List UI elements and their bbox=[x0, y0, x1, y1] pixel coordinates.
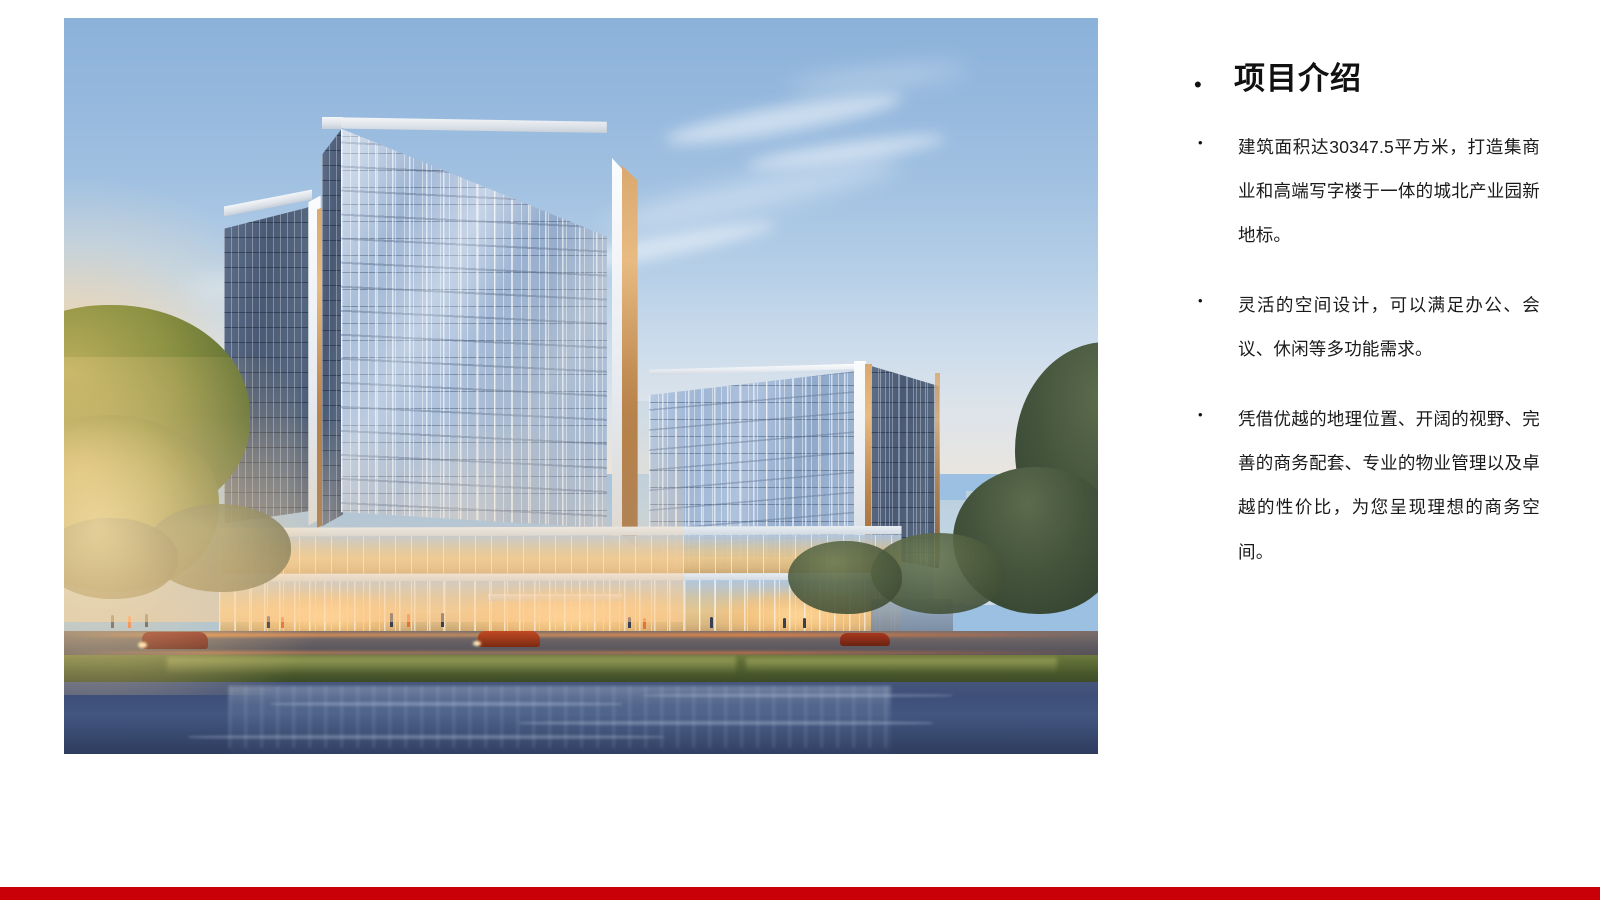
car bbox=[142, 632, 208, 649]
title-bullet-icon: • bbox=[1160, 74, 1234, 96]
pedestrian bbox=[145, 614, 148, 627]
bullet-text: 凭借优越的地理位置、开阔的视野、完善的商务配套、专业的物业管理以及卓越的性价比，… bbox=[1238, 397, 1540, 573]
bullet-item: • 凭借优越的地理位置、开阔的视野、完善的商务配套、专业的物业管理以及卓越的性价… bbox=[1160, 397, 1540, 573]
bullet-item: • 灵活的空间设计，可以满足办公、会议、休闲等多功能需求。 bbox=[1160, 283, 1540, 371]
pedestrian bbox=[111, 615, 114, 628]
water-ripple bbox=[519, 721, 933, 725]
tower-north-facade bbox=[322, 127, 343, 526]
grass-highlight bbox=[746, 658, 1056, 673]
tower-glass-reflection bbox=[341, 129, 607, 528]
street-light-trail bbox=[64, 651, 1098, 655]
pedestrian bbox=[407, 614, 410, 627]
footer-accent-bar bbox=[0, 887, 1600, 900]
pedestrian bbox=[803, 618, 806, 628]
pedestrian bbox=[628, 617, 631, 628]
tower-left-wing-facade bbox=[224, 206, 312, 523]
car-headlight bbox=[473, 641, 481, 646]
tower-roof-slab bbox=[341, 117, 607, 133]
page-title: 项目介绍 bbox=[1234, 60, 1362, 99]
slide-canvas: • 项目介绍 • 建筑面积达30347.5平方米，打造集商业和高端写字楼于一体的… bbox=[0, 0, 1600, 900]
project-rendering-image bbox=[64, 18, 1098, 754]
grass-highlight bbox=[167, 657, 736, 675]
tree-midground-left bbox=[64, 518, 178, 599]
car bbox=[478, 631, 540, 647]
water-ripple bbox=[188, 735, 664, 739]
street-light-trail bbox=[64, 633, 1098, 637]
section-title-row: • 项目介绍 bbox=[1160, 60, 1540, 99]
pedestrian bbox=[441, 613, 444, 627]
main-tower bbox=[224, 117, 607, 551]
tower-accent-stripe-right bbox=[622, 165, 638, 548]
bullet-point-icon: • bbox=[1160, 294, 1238, 307]
bullet-item: • 建筑面积达30347.5平方米，打造集商业和高端写字楼于一体的城北产业园新地… bbox=[1160, 125, 1540, 257]
pedestrian bbox=[390, 613, 393, 627]
text-content-panel: • 项目介绍 • 建筑面积达30347.5平方米，打造集商业和高端写字楼于一体的… bbox=[1160, 60, 1540, 600]
pedestrian bbox=[128, 616, 131, 628]
secondary-tower-roof bbox=[649, 364, 860, 376]
car bbox=[840, 633, 890, 646]
bullet-text: 建筑面积达30347.5平方米，打造集商业和高端写字楼于一体的城北产业园新地标。 bbox=[1238, 125, 1540, 257]
tree-midground-right bbox=[788, 541, 902, 615]
tower-corner-fin bbox=[612, 158, 623, 548]
pedestrian bbox=[783, 618, 786, 628]
pedestrian bbox=[643, 618, 646, 629]
bullet-text: 灵活的空间设计，可以满足办公、会议、休闲等多功能需求。 bbox=[1238, 283, 1540, 371]
bullet-point-icon: • bbox=[1160, 408, 1238, 421]
pedestrian bbox=[267, 616, 270, 628]
bullet-point-icon: • bbox=[1160, 136, 1238, 149]
water-ripple bbox=[643, 694, 953, 697]
pedestrian bbox=[710, 617, 713, 628]
pedestrian bbox=[281, 617, 284, 628]
tower-roof-cap bbox=[322, 117, 343, 128]
